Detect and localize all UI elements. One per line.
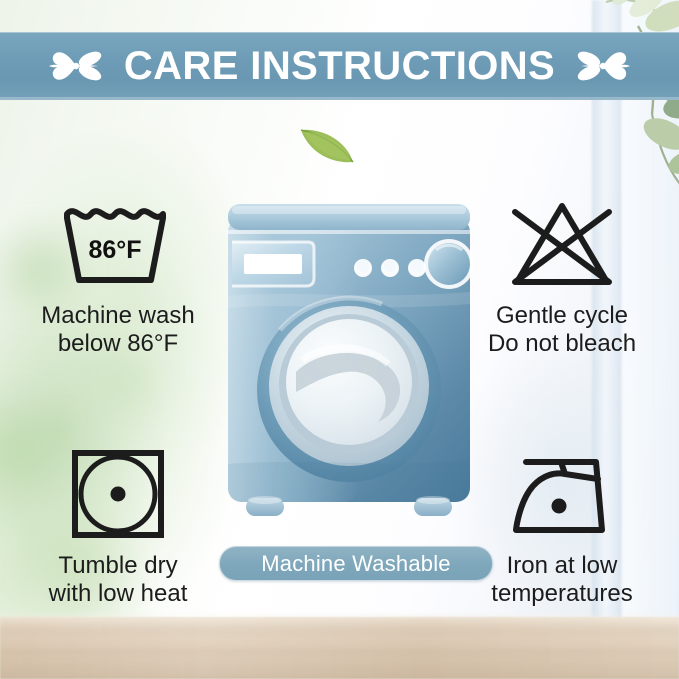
- tumble-dry-square-icon: [66, 442, 170, 546]
- badge-label: Machine Washable: [261, 553, 450, 575]
- care-instructions-infographic: CARE INSTRUCTIONS 86°F: [0, 0, 679, 679]
- fleur-de-lis-ornament-left-icon: [46, 44, 106, 88]
- care-item-do-not-bleach: Gentle cycle Do not bleach: [452, 192, 672, 358]
- care-item-caption: Gentle cycle Do not bleach: [488, 302, 636, 358]
- caption-line-1: Tumble dry: [58, 552, 177, 579]
- washing-machine-illustration: [222, 200, 476, 540]
- care-item-caption: Machine wash below 86°F: [41, 302, 194, 358]
- care-item-machine-wash: 86°F Machine wash below 86°F: [8, 192, 228, 358]
- caption-line-2: below 86°F: [41, 330, 194, 358]
- care-item-caption: Iron at low temperatures: [491, 552, 632, 608]
- wash-tub-icon: 86°F: [59, 192, 177, 296]
- fleur-de-lis-ornament-right-icon: [573, 44, 633, 88]
- triangle-crossed-bleach-icon: [503, 192, 621, 296]
- machine-washable-badge: Machine Washable: [219, 546, 493, 581]
- wash-temperature-label: 86°F: [88, 236, 141, 264]
- caption-line-1: Iron at low: [507, 552, 618, 579]
- caption-line-1: Machine wash: [41, 302, 194, 329]
- iron-one-dot-icon: [503, 442, 621, 546]
- caption-line-2: with low heat: [49, 580, 188, 608]
- caption-line-1: Gentle cycle: [496, 302, 628, 329]
- page-title: CARE INSTRUCTIONS: [124, 46, 555, 86]
- care-item-iron-low: Iron at low temperatures: [452, 442, 672, 608]
- caption-line-2: temperatures: [491, 580, 632, 608]
- care-item-caption: Tumble dry with low heat: [49, 552, 188, 608]
- table-wood-grain: [0, 617, 679, 679]
- header-banner: CARE INSTRUCTIONS: [0, 32, 679, 100]
- care-item-tumble-dry: Tumble dry with low heat: [8, 442, 228, 608]
- green-leaf-decoration: [297, 118, 359, 172]
- caption-line-2: Do not bleach: [488, 330, 636, 358]
